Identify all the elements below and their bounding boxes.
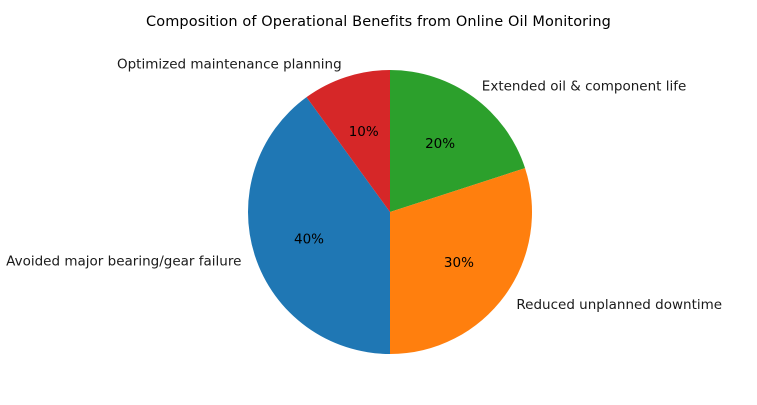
pie-slice-percent-label: 10%	[349, 124, 379, 140]
pie-slice-percent-label: 30%	[444, 255, 474, 271]
pie-slice-percent-label: 20%	[425, 136, 455, 152]
pie-slice-category-label: Extended oil & component life	[482, 79, 687, 95]
pie-slice-category-label: Reduced unplanned downtime	[516, 297, 722, 313]
pie-slice-category-label: Optimized maintenance planning	[117, 56, 342, 72]
pie-slices-group	[248, 70, 532, 354]
pie-slice-percent-label: 40%	[294, 231, 324, 247]
pie-chart-canvas: 20%30%40%10% Extended oil & component li…	[0, 0, 757, 405]
pie-slice-category-label: Avoided major bearing/gear failure	[6, 253, 241, 269]
chart-figure: Composition of Operational Benefits from…	[0, 0, 757, 405]
